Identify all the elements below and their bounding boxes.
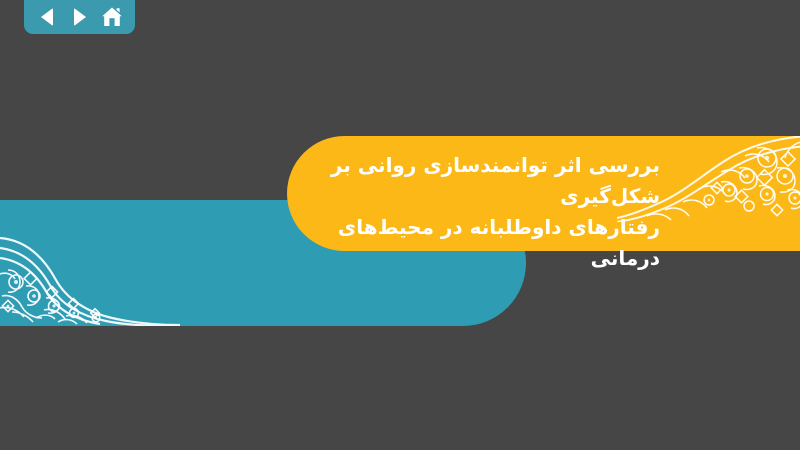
presentation-slide: بررسی اثر توانمندسازی روانی بر شکل‌گیری …: [0, 0, 800, 450]
triangle-left-icon: [41, 8, 53, 26]
home-icon: [100, 6, 124, 28]
previous-slide-button[interactable]: [35, 5, 59, 29]
home-button[interactable]: [100, 5, 124, 29]
slide-navigation-bar: [24, 0, 135, 34]
slide-title: بررسی اثر توانمندسازی روانی بر شکل‌گیری …: [300, 150, 660, 274]
arabesque-corner-ornament: [0, 200, 180, 326]
triangle-right-icon: [74, 8, 86, 26]
next-slide-button[interactable]: [68, 5, 92, 29]
